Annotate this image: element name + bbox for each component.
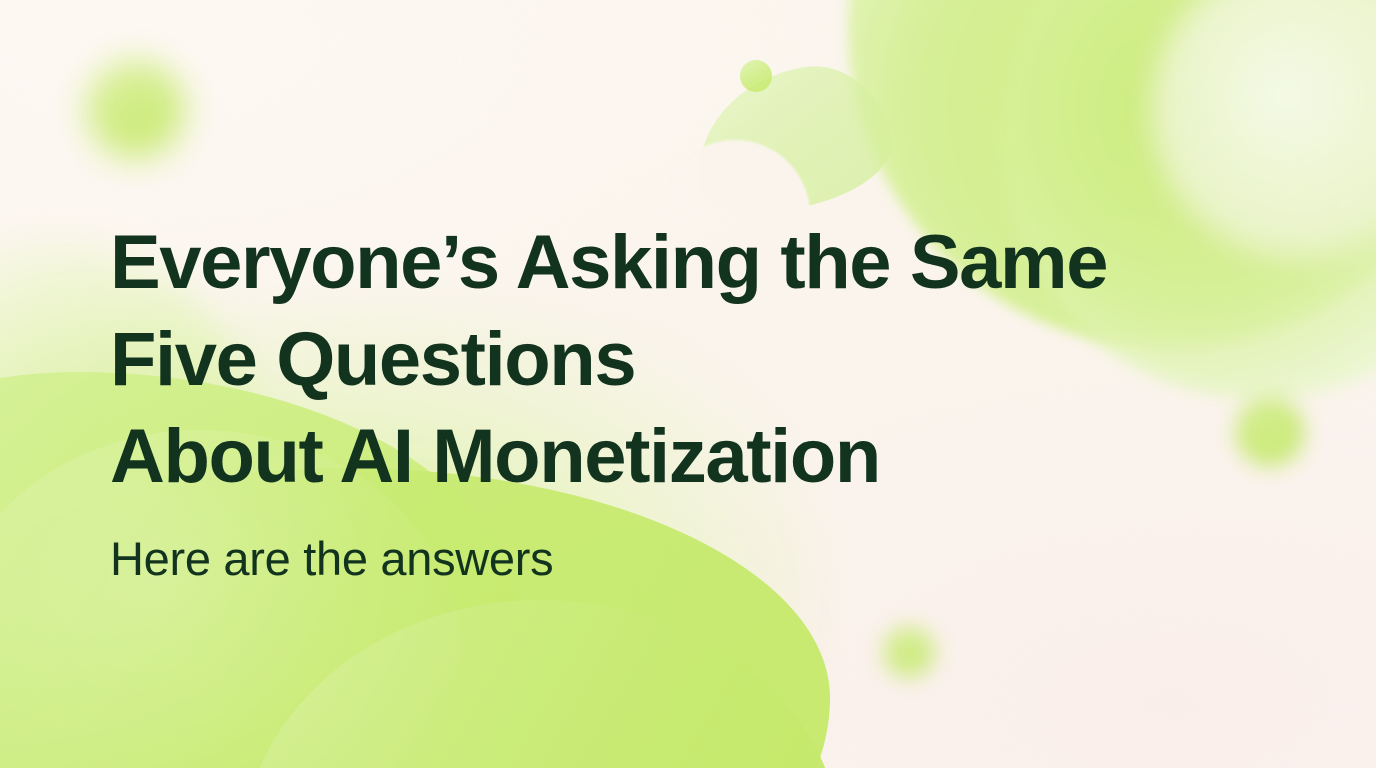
slide-canvas: Everyone’s Asking the Same Five Question… xyxy=(0,0,1376,768)
orb-top-left xyxy=(88,62,184,158)
dot-top-small xyxy=(740,60,772,92)
orb-bottom-center xyxy=(884,627,934,677)
slide-headline: Everyone’s Asking the Same Five Question… xyxy=(110,214,1310,505)
slide-subheadline: Here are the answers xyxy=(110,531,1310,587)
slide-content: Everyone’s Asking the Same Five Question… xyxy=(110,214,1310,587)
